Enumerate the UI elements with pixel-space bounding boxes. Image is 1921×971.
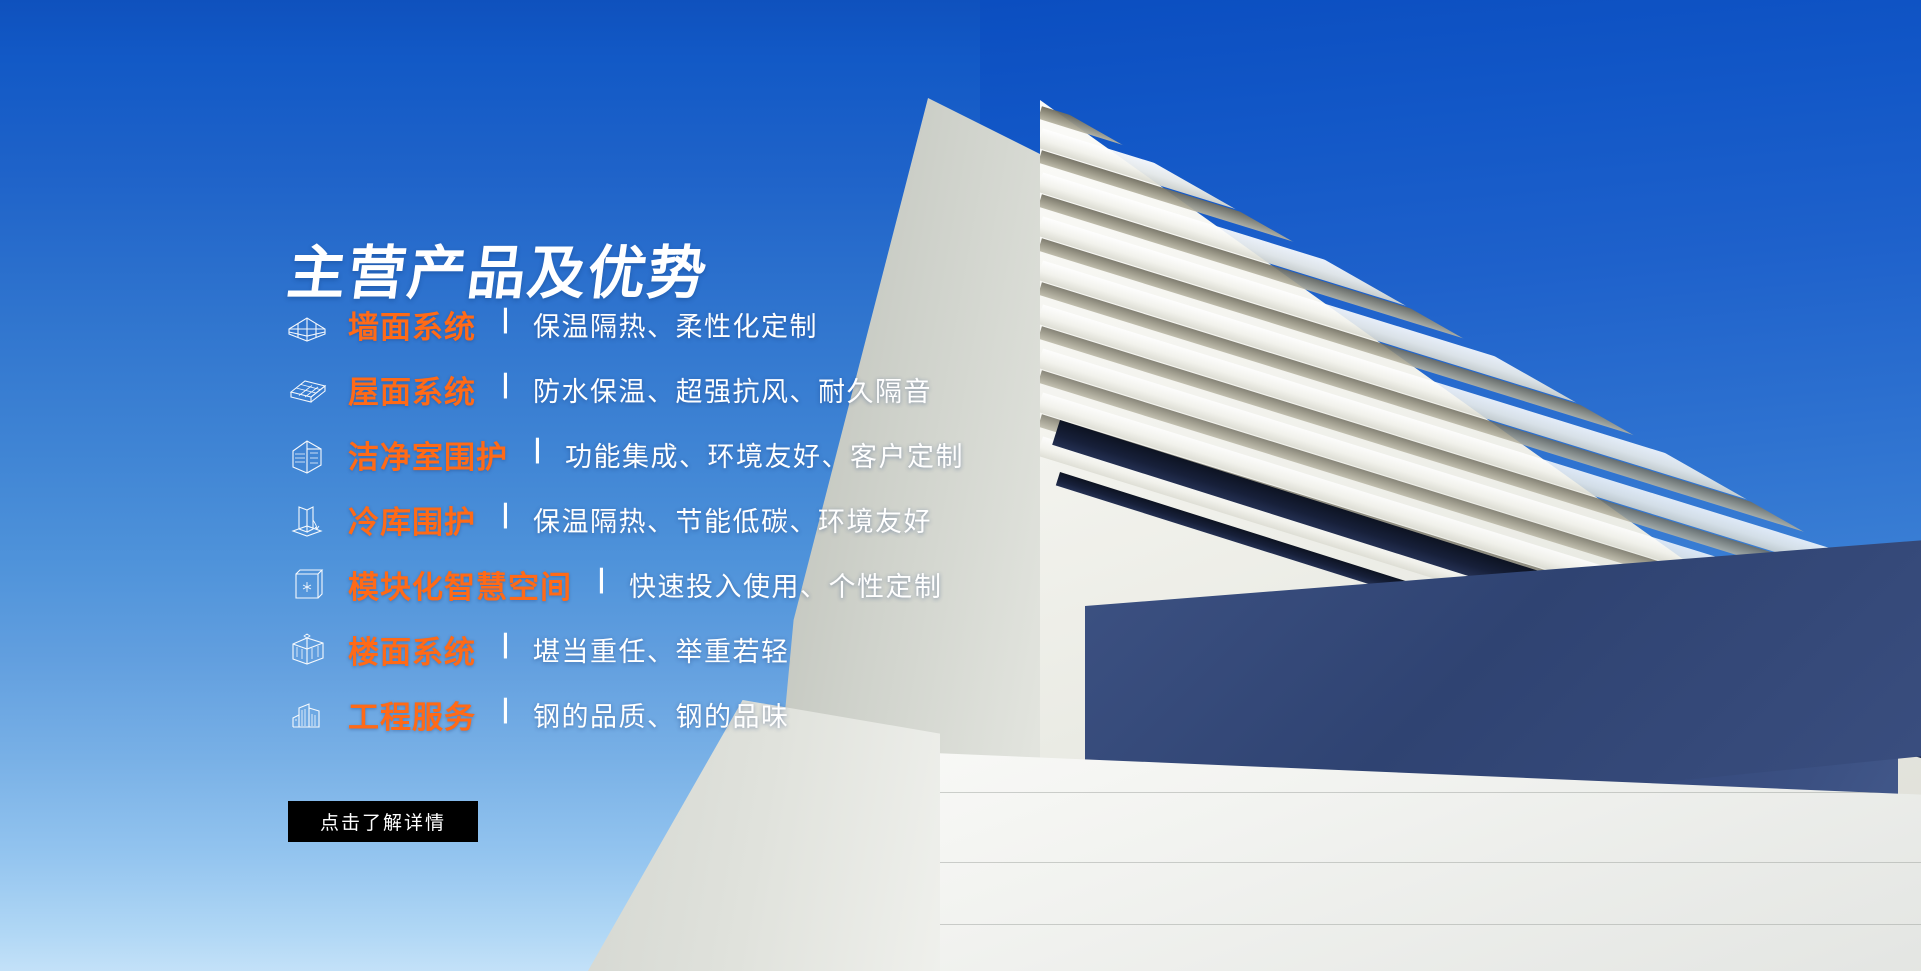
list-item[interactable]: 楼面系统 丨 堪当重任、举重若轻 — [284, 617, 1164, 682]
feature-name: 楼面系统 — [348, 627, 476, 672]
feature-separator: 丨 — [524, 439, 551, 466]
floor-system-icon — [284, 627, 330, 673]
feature-list: 墙面系统 丨 保温隔热、柔性化定制 屋面系统 — [284, 292, 1164, 747]
feature-name: 洁净室围护 — [348, 432, 508, 477]
feature-description: 钢的品质、钢的品味 — [533, 695, 790, 734]
cold-storage-enclosure-icon — [284, 497, 330, 543]
feature-separator: 丨 — [492, 699, 519, 726]
learn-more-button[interactable]: 点击了解详情 — [288, 801, 478, 842]
feature-separator: 丨 — [492, 504, 519, 531]
feature-description: 保温隔热、节能低碳、环境友好 — [533, 500, 932, 539]
feature-name: 墙面系统 — [348, 302, 476, 347]
feature-description: 快速投入使用、个性定制 — [629, 565, 943, 604]
list-item[interactable]: 屋面系统 丨 防水保温、超强抗风、耐久隔音 — [284, 357, 1164, 422]
product-advantage-banner: 主营产品及优势 墙面系统 丨 保温隔热、柔性化定制 — [0, 0, 1921, 971]
modular-smart-space-icon — [284, 562, 330, 608]
list-item[interactable]: 墙面系统 丨 保温隔热、柔性化定制 — [284, 292, 1164, 357]
wall-system-icon — [284, 302, 330, 348]
feature-description: 保温隔热、柔性化定制 — [533, 305, 818, 344]
feature-separator: 丨 — [492, 634, 519, 661]
feature-name: 工程服务 — [348, 692, 476, 737]
list-item[interactable]: 冷库围护 丨 保温隔热、节能低碳、环境友好 — [284, 487, 1164, 552]
list-item[interactable]: 工程服务 丨 钢的品质、钢的品味 — [284, 682, 1164, 747]
roof-system-icon — [284, 367, 330, 413]
feature-description: 功能集成、环境友好、客户定制 — [565, 435, 964, 474]
feature-separator: 丨 — [588, 569, 615, 596]
feature-name: 屋面系统 — [348, 367, 476, 412]
list-item[interactable]: 洁净室围护 丨 功能集成、环境友好、客户定制 — [284, 422, 1164, 487]
feature-description: 堪当重任、举重若轻 — [533, 630, 790, 669]
feature-separator: 丨 — [492, 309, 519, 336]
cleanroom-enclosure-icon — [284, 432, 330, 478]
feature-name: 模块化智慧空间 — [348, 562, 572, 607]
engineering-service-icon — [284, 692, 330, 738]
feature-name: 冷库围护 — [348, 497, 476, 542]
list-item[interactable]: 模块化智慧空间 丨 快速投入使用、个性定制 — [284, 552, 1164, 617]
feature-separator: 丨 — [492, 374, 519, 401]
banner-content: 主营产品及优势 墙面系统 丨 保温隔热、柔性化定制 — [0, 0, 1000, 971]
feature-description: 防水保温、超强抗风、耐久隔音 — [533, 370, 932, 409]
